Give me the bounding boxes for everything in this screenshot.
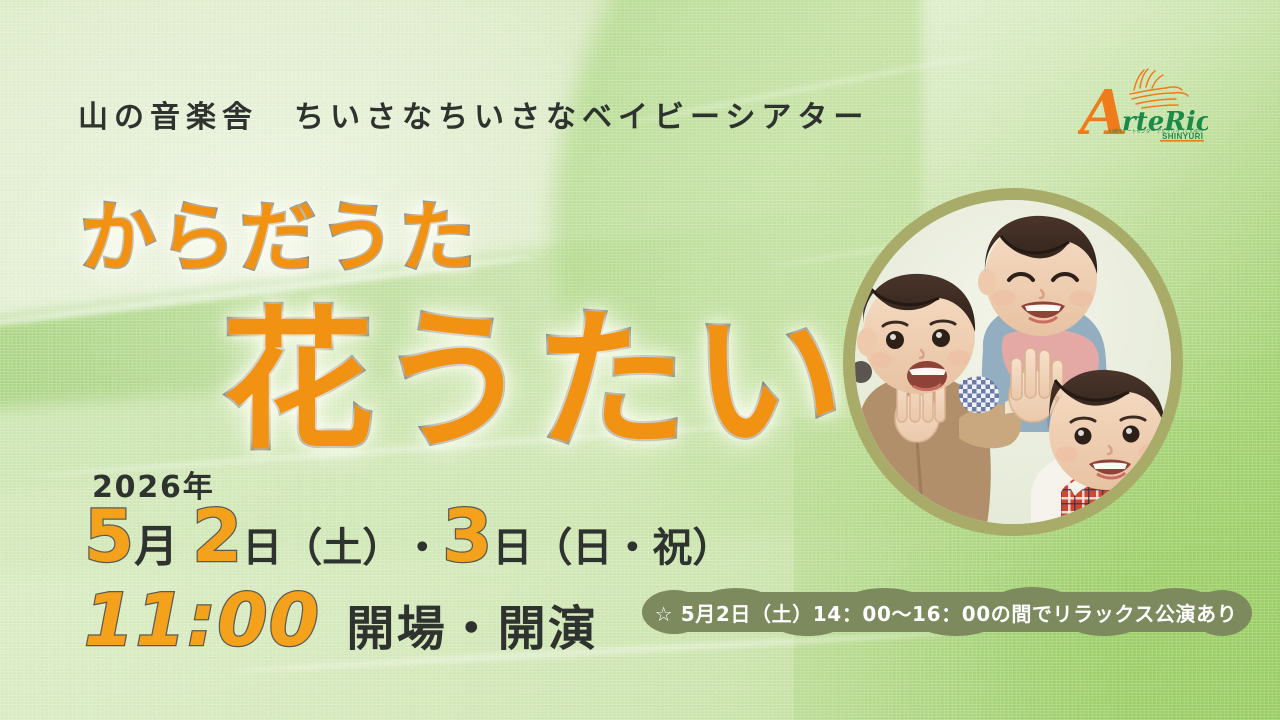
date-month-number: 5 — [84, 500, 134, 572]
date-day2-weekday: （日・祝） — [532, 528, 732, 568]
logo-caption: 川崎市アートセンター アルテリッコしんゆり — [1108, 129, 1204, 136]
page-subtitle: 山の音楽舎 ちいさなちいさなベイビーシアター — [78, 92, 869, 136]
date-day1-unit: 日 — [242, 528, 282, 568]
time-label: 開場・開演 — [346, 605, 598, 653]
date-month-unit: 月 — [134, 525, 178, 569]
time-colon: : — [187, 584, 217, 656]
note-text: ☆ 5月2日（土）14：00〜16：00の間でリラックス公演あり — [640, 586, 1252, 638]
page-title: 花うたい — [222, 258, 848, 478]
time-hour: 11 — [84, 584, 187, 656]
date-separator: ・ — [402, 528, 442, 568]
poster-canvas: 山の音楽舎 ちいさなちいさなベイビーシアター A rteRicca SHIN — [0, 0, 1280, 720]
date-day1-weekday: （土） — [282, 528, 402, 568]
svg-text:A: A — [1078, 76, 1128, 148]
three-smiling-babies-photo — [855, 200, 1171, 524]
date-day1-number: 2 — [192, 500, 242, 572]
event-time-line: 11 : 00 開場・開演 — [84, 584, 598, 656]
date-day2-number: 3 — [442, 500, 492, 572]
photo-circle — [843, 188, 1183, 536]
date-day2-unit: 日 — [492, 528, 532, 568]
photo-image — [855, 200, 1171, 524]
event-date-line: 5 月 2 日 （土） ・ 3 日 （日・祝） — [84, 500, 732, 572]
relax-performance-note: ☆ 5月2日（土）14：00〜16：00の間でリラックス公演あり — [640, 586, 1252, 638]
time-minute: 00 — [217, 584, 320, 656]
